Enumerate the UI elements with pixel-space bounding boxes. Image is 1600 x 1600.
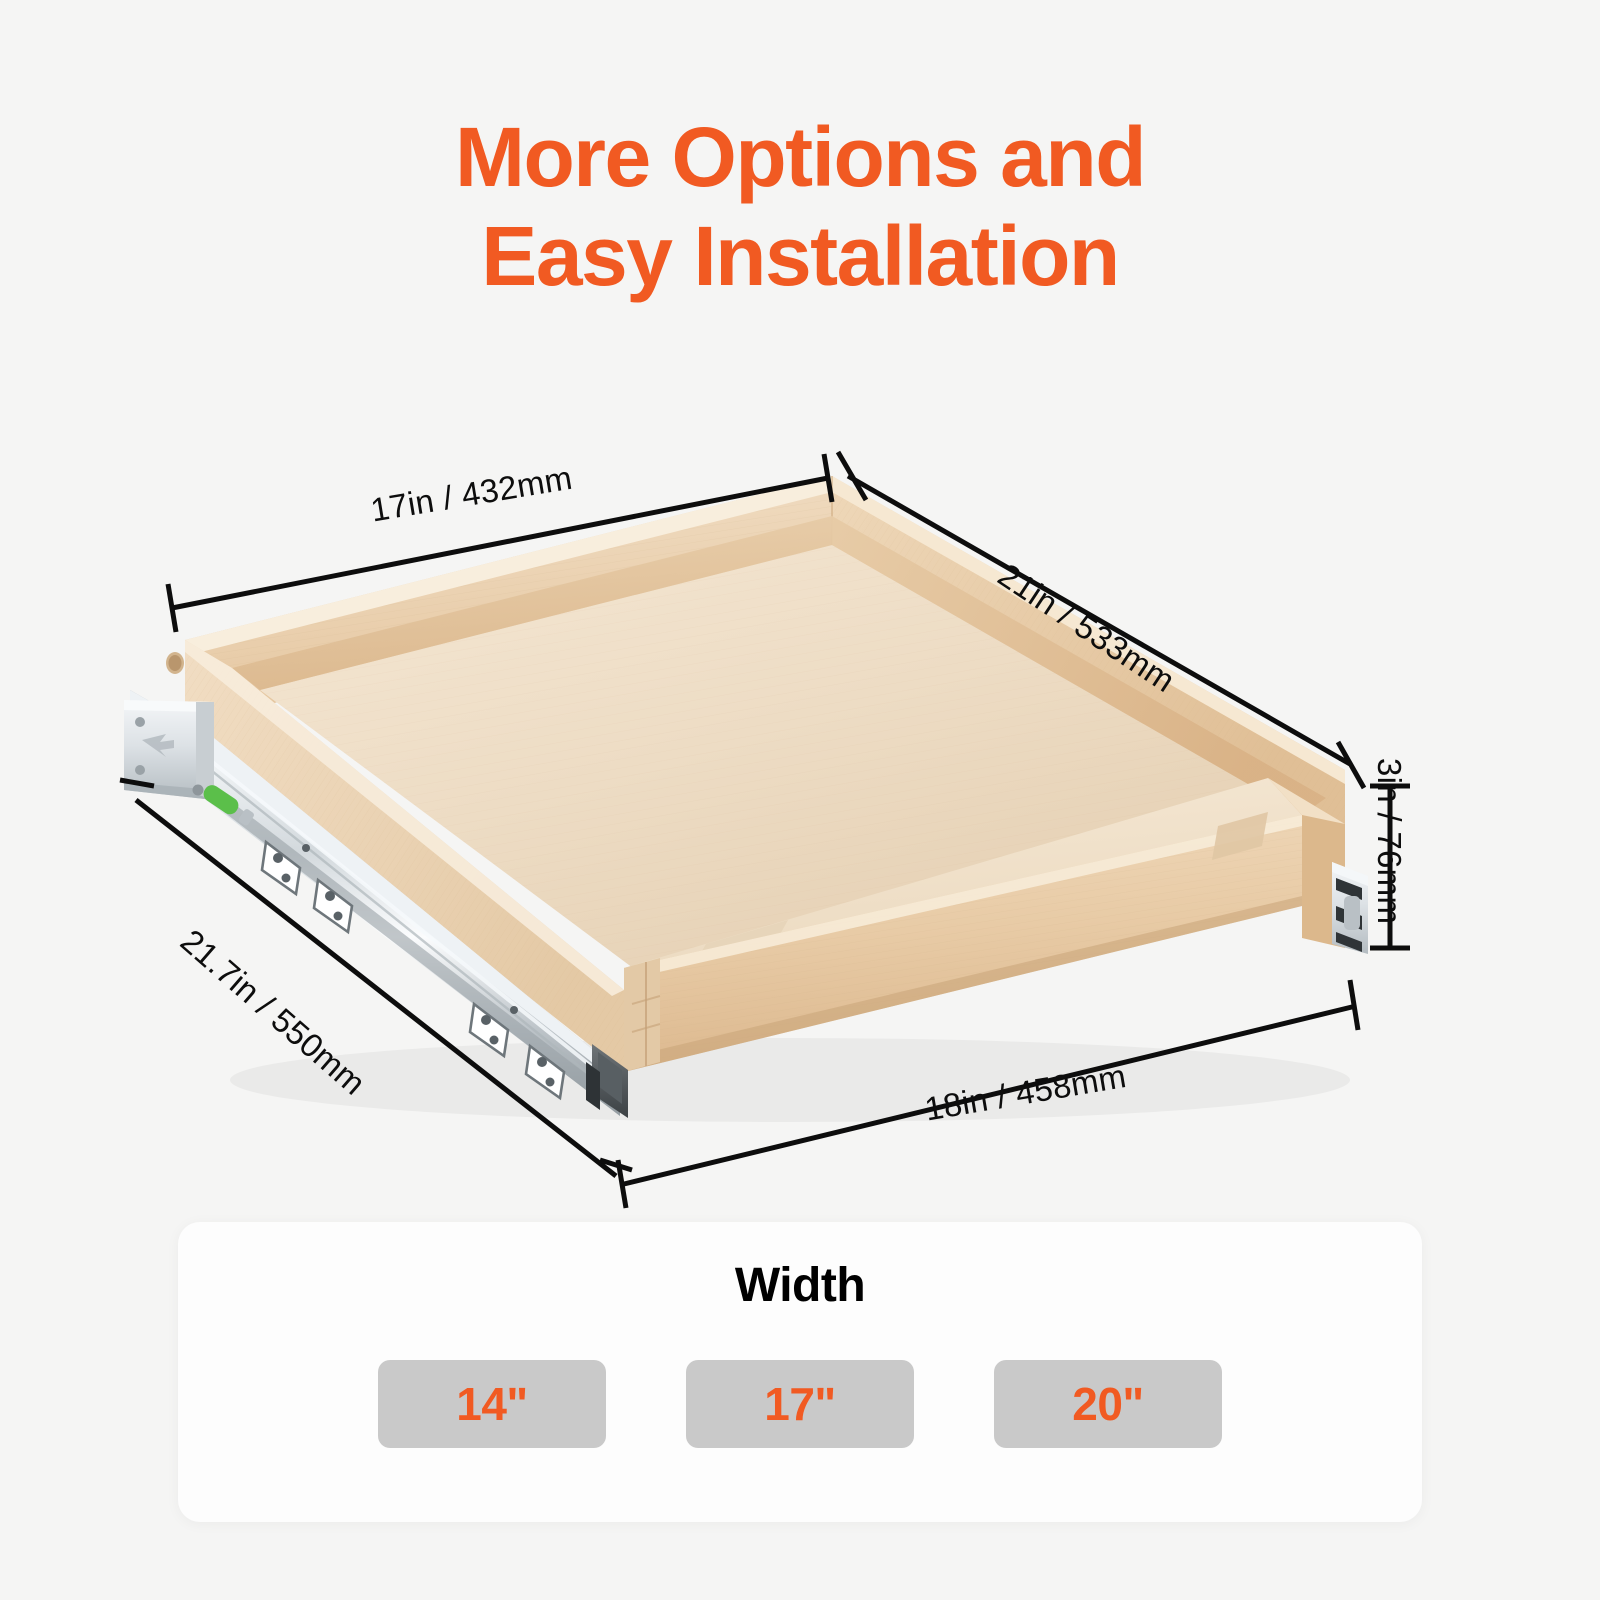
- dimension-label-depth: 21in / 533mm: [991, 556, 1182, 700]
- dimension-label-front-width: 17in / 432mm: [368, 459, 575, 530]
- headline-line-1: More Options and: [455, 110, 1145, 204]
- width-selector-card: Width 14" 17" 20": [178, 1222, 1422, 1522]
- width-option-14[interactable]: 14": [378, 1360, 606, 1448]
- page-title: More Options and Easy Installation: [0, 108, 1600, 306]
- width-option-list: 14" 17" 20": [178, 1360, 1422, 1448]
- width-selector-title: Width: [178, 1258, 1422, 1313]
- width-option-20[interactable]: 20": [994, 1360, 1222, 1448]
- dimension-label-overall-width: 18in / 458mm: [922, 1057, 1129, 1128]
- headline-line-2: Easy Installation: [0, 207, 1600, 306]
- dimension-label-slide-length: 21.7in / 550mm: [173, 922, 373, 1103]
- width-option-17[interactable]: 17": [686, 1360, 914, 1448]
- dimension-label-height: 3in / 76mm: [1370, 758, 1408, 924]
